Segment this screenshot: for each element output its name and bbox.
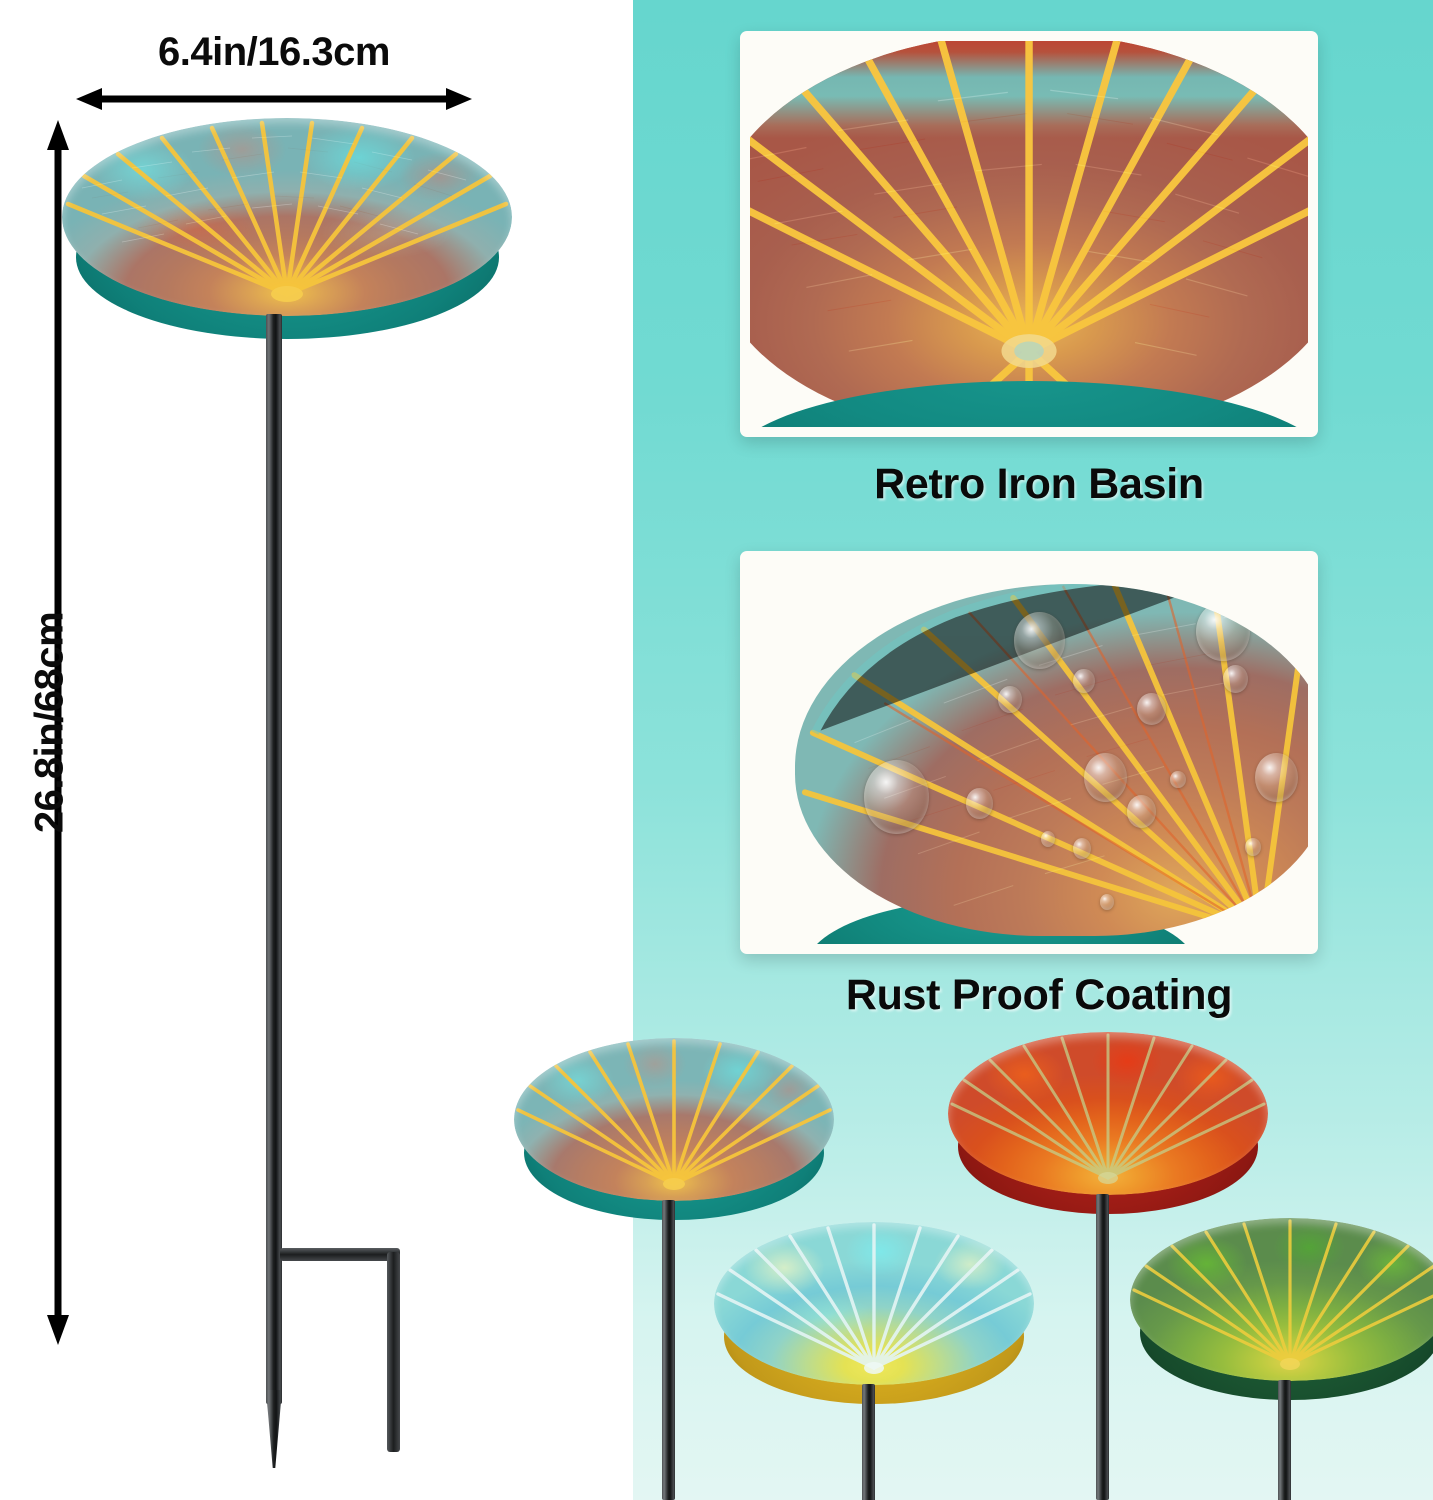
water-droplet <box>1170 771 1186 789</box>
variant-radial-ribs <box>948 1032 1268 1195</box>
feature-card-retro-iron-basin <box>740 31 1318 437</box>
feature-photo-retro-iron-basin <box>750 41 1308 427</box>
variant-stake-rod <box>862 1384 875 1500</box>
variant-radial-ribs <box>1130 1218 1433 1381</box>
water-droplet <box>1084 753 1127 802</box>
water-droplet <box>1127 795 1156 827</box>
water-droplet <box>998 686 1022 713</box>
hero-bowl <box>62 118 512 348</box>
closeup-bowl-interior <box>750 41 1308 427</box>
water-droplet <box>1073 669 1094 694</box>
water-droplet <box>1223 665 1248 693</box>
variant-stake-rod <box>662 1200 675 1500</box>
feature-heading-retro-iron-basin: Retro Iron Basin <box>729 460 1349 509</box>
water-droplet <box>1014 612 1065 668</box>
bowl-crackle-texture <box>62 118 512 316</box>
feature-photo-rust-proof-coating <box>750 561 1308 944</box>
variant-radial-ribs <box>514 1038 834 1201</box>
water-droplet <box>1245 838 1261 856</box>
variant-stake-rod <box>1096 1194 1109 1500</box>
water-droplet <box>1196 602 1250 662</box>
variant-dish <box>514 1038 834 1201</box>
water-droplet <box>966 788 993 818</box>
bowl-dish <box>62 118 512 316</box>
stake-support-leg-horizontal <box>280 1248 400 1261</box>
product-infographic: 6.4in/16.3cm 26.8in/68cm <box>0 0 1433 1500</box>
feature-card-rust-proof-coating <box>740 551 1318 954</box>
variant-stake-rod <box>1278 1380 1291 1500</box>
water-droplet <box>1100 894 1114 910</box>
droplet-bowl-surface <box>795 584 1308 936</box>
feature-heading-rust-proof-coating: Rust Proof Coating <box>729 971 1349 1020</box>
closeup-crackle-texture <box>750 41 1308 427</box>
width-dimension-label: 6.4in/16.3cm <box>74 30 474 75</box>
water-droplet <box>864 760 928 834</box>
width-dimension-arrow-icon <box>76 86 472 112</box>
water-droplet <box>1041 831 1055 847</box>
stake-support-leg-vertical <box>387 1252 400 1452</box>
variant-dish <box>1130 1218 1433 1381</box>
stake-ground-spike-icon <box>266 1390 282 1468</box>
variant-green <box>1130 1218 1433 1500</box>
stake-main-rod <box>266 314 282 1404</box>
variant-dish <box>948 1032 1268 1195</box>
hero-product <box>62 118 512 1348</box>
